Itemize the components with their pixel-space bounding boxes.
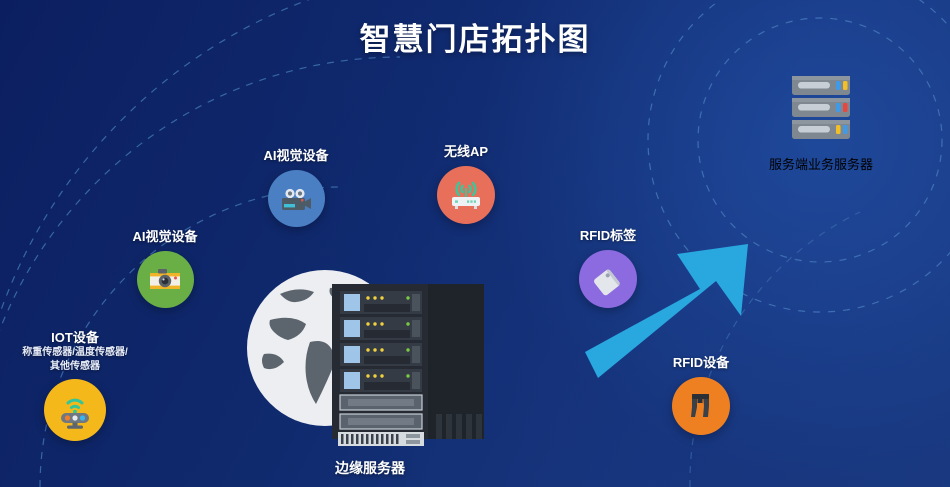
node-edge-server[interactable] [240,258,500,487]
photo-camera-icon [137,251,194,308]
iot-sensor-icon [44,379,106,441]
node-rfid-tag[interactable]: RFID标签 [548,228,668,308]
node-ai-video[interactable]: AI视觉设备 [236,148,356,227]
video-camera-icon [268,170,325,227]
globe-server-rack-icon [240,258,500,458]
node-ai-video-label: AI视觉设备 [236,148,356,164]
wifi-router-icon [437,166,495,224]
node-wireless-ap-label: 无线AP [406,144,526,160]
topology-canvas: 智慧门店拓扑图 IOT设备 称重传感器/温度传感器/ 其他传感器 AI视觉设备 [0,0,950,487]
node-iot-sub-line1: 称重传感器/温度传感器/ [0,347,150,360]
price-tag-icon [579,250,637,308]
server-rack-icon [782,70,860,148]
node-cloud-server[interactable]: 服务端业务服务器 [700,70,942,210]
barcode-scanner-icon [672,377,730,435]
node-cloud-server-label: 服务端业务服务器 [700,154,942,173]
node-rfid-device[interactable]: RFID设备 [641,355,761,435]
node-iot-device[interactable]: IOT设备 称重传感器/温度传感器/ 其他传感器 [0,330,150,441]
node-iot-sub-line2: 其他传感器 [0,361,150,374]
node-rfid-device-label: RFID设备 [641,355,761,371]
node-ai-camera[interactable]: AI视觉设备 [105,229,225,308]
node-edge-server-label: 边缘服务器 [240,458,500,478]
node-rfid-tag-label: RFID标签 [548,228,668,244]
node-ai-camera-label: AI视觉设备 [105,229,225,245]
node-iot-label: IOT设备 [0,330,150,346]
node-wireless-ap[interactable]: 无线AP [406,144,526,224]
page-title: 智慧门店拓扑图 [0,14,950,59]
